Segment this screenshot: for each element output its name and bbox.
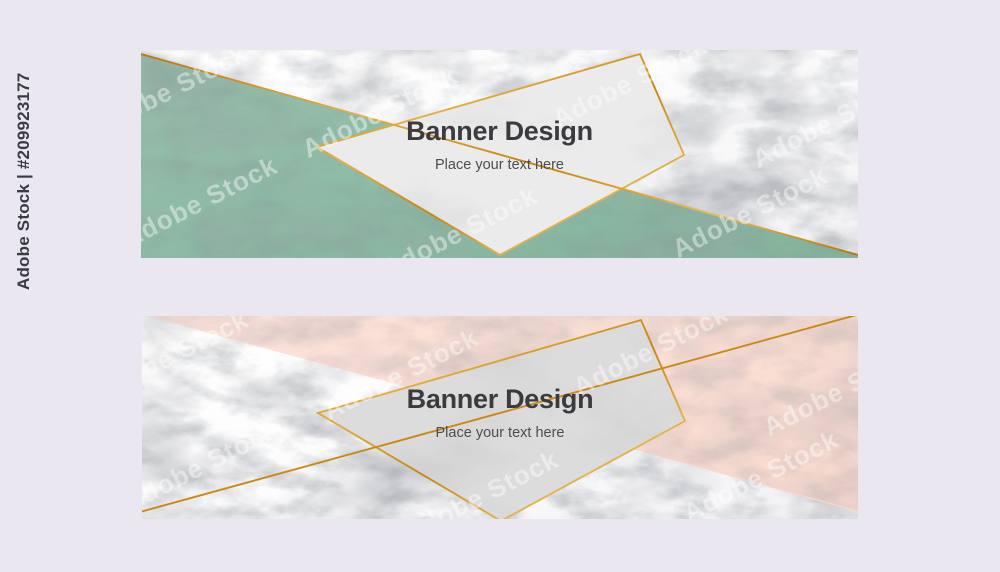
pink-marble-banner[interactable]: Adobe Stock Adobe Stock Adobe Stock Adob… [142, 316, 858, 519]
green-banner-artwork [141, 50, 858, 258]
green-marble-banner[interactable]: Adobe Stock Adobe Stock Adobe Stock Adob… [141, 50, 858, 258]
poster-canvas: Adobe Stock | #209923177 [0, 0, 1000, 572]
pink-banner-artwork [142, 316, 858, 519]
adobe-stock-credit-label: Adobe Stock | #209923177 [14, 73, 34, 290]
